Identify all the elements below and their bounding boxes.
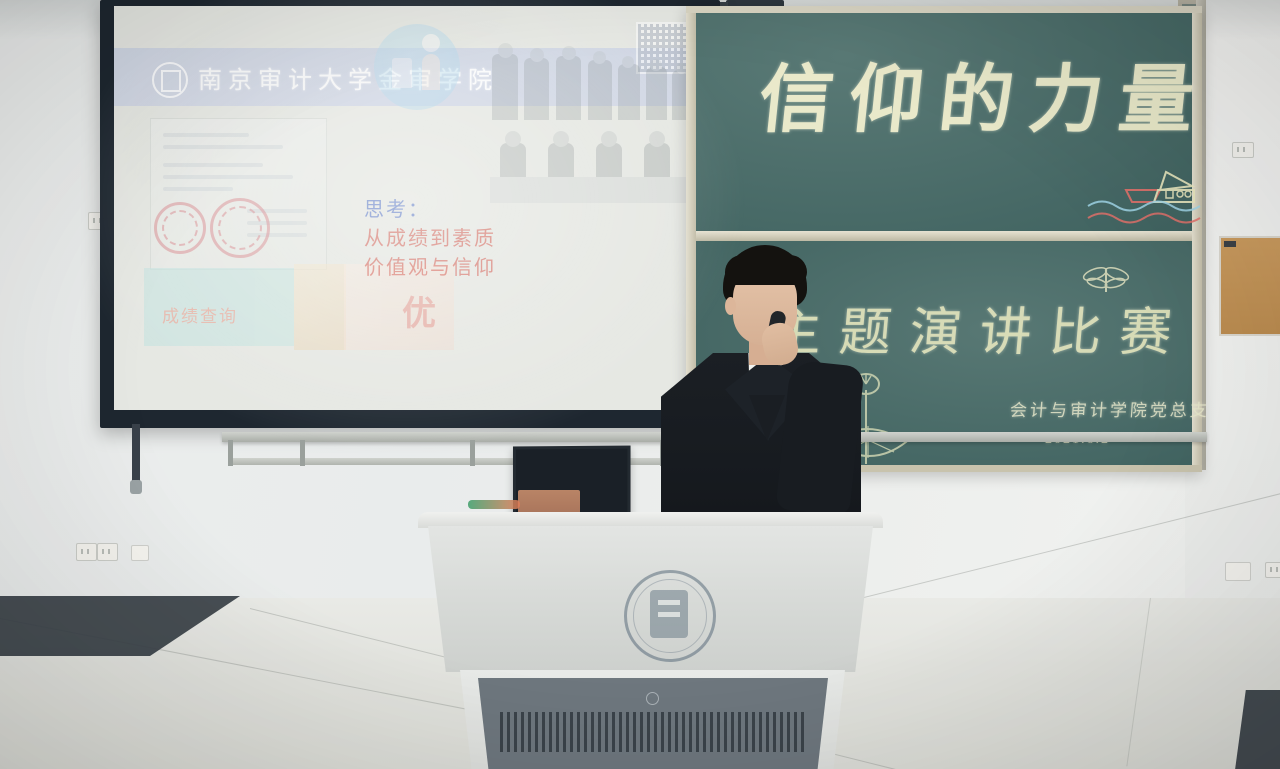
blackboard-divider [693, 231, 1195, 241]
blackboard-organization: 会计与审计学院党总支 [1009, 396, 1211, 421]
ear [725, 297, 736, 315]
board-clip-icon [1224, 241, 1236, 247]
slide-takeaway-line-2: 价值观与信仰 [364, 254, 496, 283]
blackboard-title: 信仰的力量 [754, 40, 1215, 147]
university-emblem-icon [624, 570, 716, 662]
interview-panel-icon [490, 131, 690, 203]
university-crest-icon [152, 62, 188, 98]
podium-front-panel [428, 526, 873, 672]
screen-pull-handle[interactable] [132, 424, 140, 484]
slide-certificate-char: 优 [402, 286, 436, 335]
raised-arm [775, 360, 864, 517]
official-seal-icon [154, 202, 206, 254]
graduates-row-icon [486, 28, 706, 120]
podium-desktop [418, 512, 883, 528]
podium-lock-icon [646, 692, 659, 705]
speaker-person [655, 245, 870, 535]
classroom-illustration-icon [374, 24, 460, 110]
slide-takeaway-block: 思考： 从成绩到素质 价值观与信仰 [364, 196, 496, 283]
classroom-photo-scene: 南京审计大学金审学院 成绩查询 [0, 0, 1280, 769]
wall-outlet[interactable] [1265, 562, 1280, 578]
podium-vent-panel [478, 678, 828, 769]
wall-switch[interactable] [1225, 562, 1251, 581]
slide-score-query-box: 成绩查询 [144, 268, 294, 346]
wall-outlet[interactable] [1232, 142, 1254, 158]
wall-outlet[interactable] [97, 543, 118, 561]
notice-board [1219, 236, 1280, 336]
hair-fringe [725, 255, 807, 285]
lectern-podium [418, 512, 883, 769]
waves-drawing-icon [1086, 196, 1206, 230]
projection-screen: 南京审计大学金审学院 成绩查询 [100, 0, 720, 428]
dragonfly-drawing-icon [1080, 262, 1132, 296]
slide-score-query-label: 成绩查询 [162, 302, 238, 327]
wall-outlet[interactable] [76, 543, 97, 561]
slide-photo-image [294, 264, 346, 350]
power-cable [468, 500, 520, 509]
presentation-slide: 南京审计大学金审学院 成绩查询 [114, 6, 706, 410]
slide-prompt-label: 思考： [364, 196, 496, 225]
slide-takeaway-line-1: 从成绩到素质 [364, 225, 496, 254]
wall-switch[interactable] [131, 545, 149, 561]
official-seal-icon [210, 198, 270, 258]
